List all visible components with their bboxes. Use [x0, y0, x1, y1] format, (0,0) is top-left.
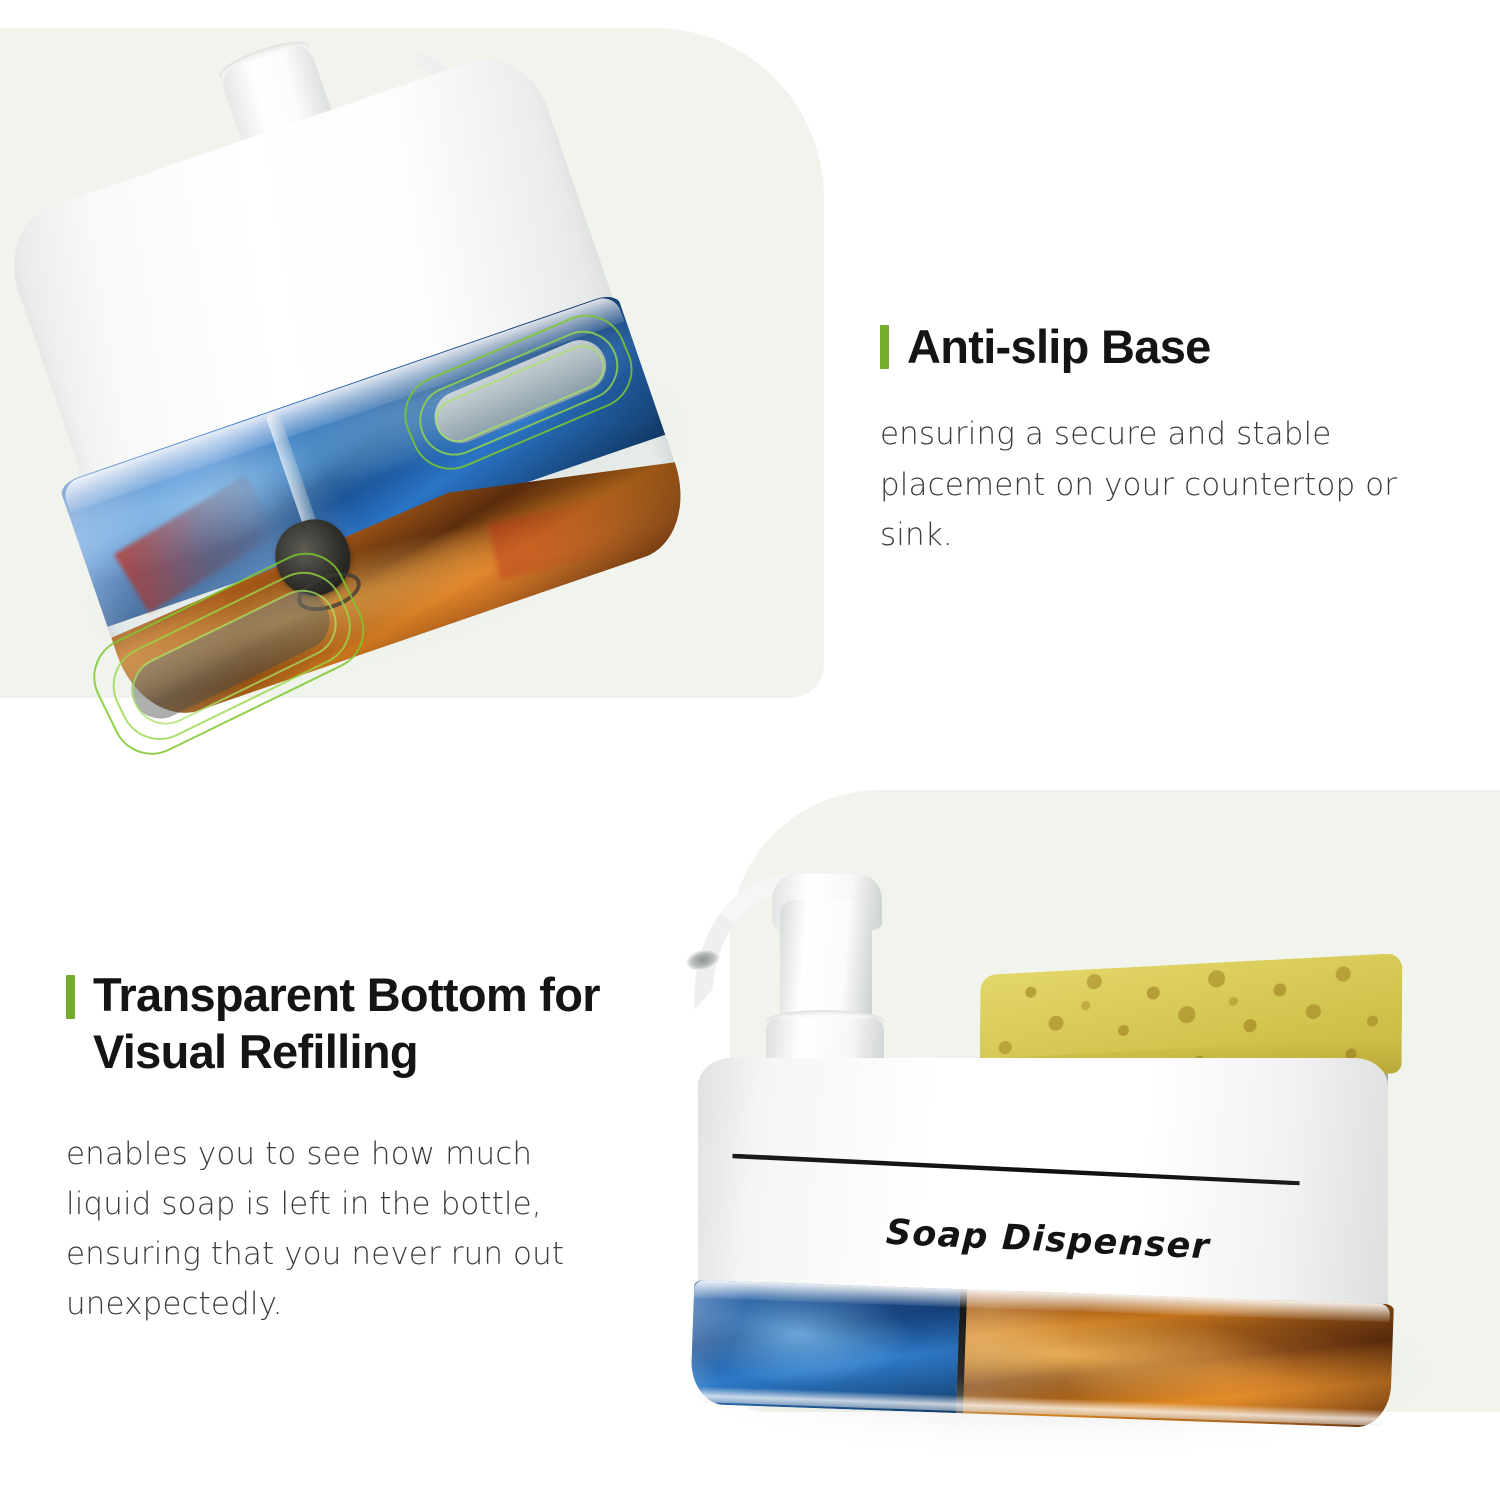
feature-block-anti-slip-base: Anti-slip Base ensuring a secure and sta…	[880, 318, 1440, 560]
accent-bar-icon	[66, 975, 75, 1019]
feature-body-text: ensuring a secure and stable placement o…	[880, 409, 1440, 560]
feature-heading-row: Anti-slip Base	[880, 318, 1440, 375]
feature-heading: Transparent Bottom for Visual Refilling	[93, 966, 626, 1081]
feature-block-transparent-bottom: Transparent Bottom for Visual Refilling …	[66, 966, 626, 1330]
feature-heading-row: Transparent Bottom for Visual Refilling	[66, 966, 626, 1081]
product-image-upright-dispenser: Soap Dispenser	[660, 800, 1460, 1440]
product-infographic-page: Soap Dispenser Anti-slip Base ensuring a…	[0, 0, 1500, 1500]
feature-heading: Anti-slip Base	[907, 318, 1211, 375]
feature-body-text: enables you to see how much liquid soap …	[66, 1129, 626, 1330]
accent-bar-icon	[880, 325, 889, 369]
pump-shaft	[780, 900, 872, 1028]
dispenser-white-body	[698, 1058, 1388, 1318]
